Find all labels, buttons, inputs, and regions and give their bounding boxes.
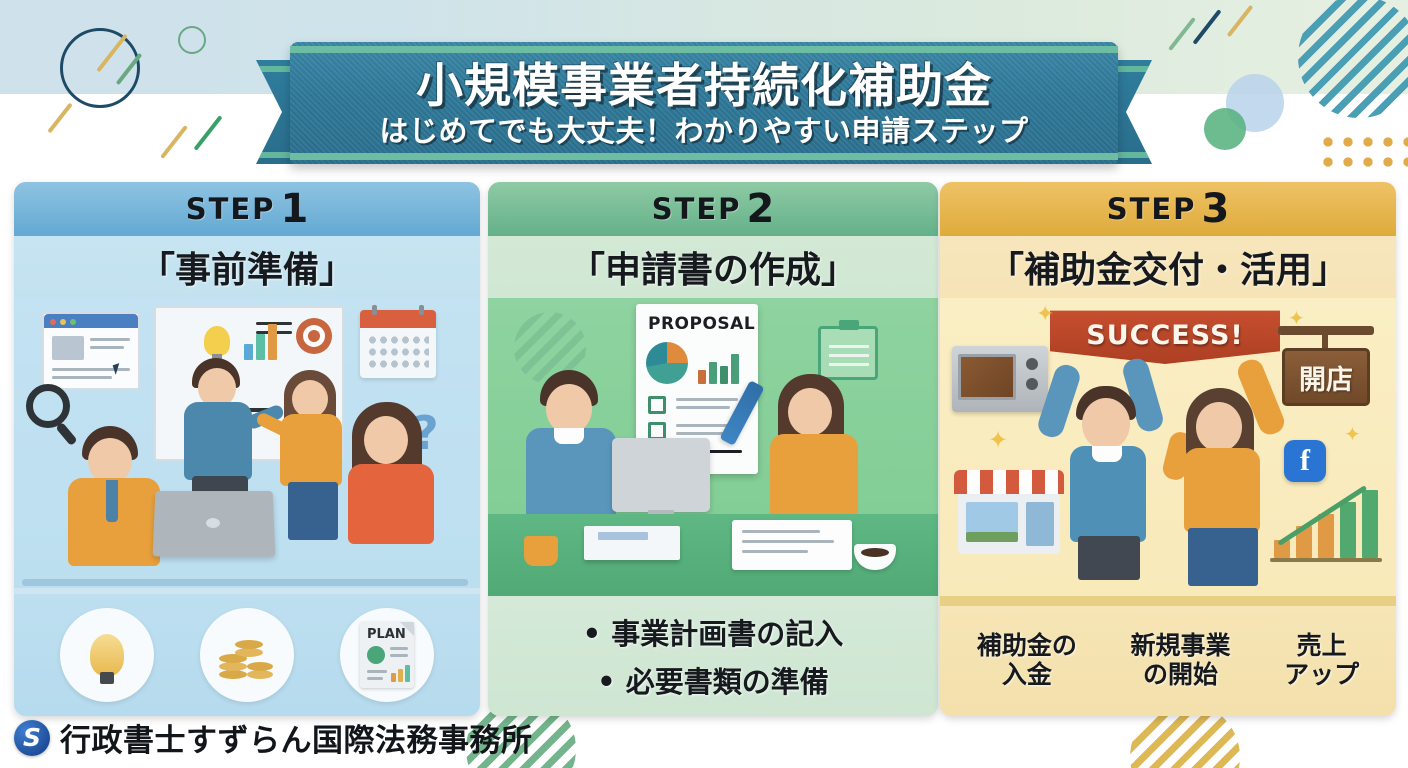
success-ribbon-text: SUCCESS! bbox=[1086, 320, 1243, 351]
step-panel-3: STEP 3 「補助金交付・活用」 SUCCESS! ✦ ✦ ✦ ✦ ✦ bbox=[940, 182, 1396, 716]
step-2-bullets: • 事業計画書の記入 • 必要書類の準備 bbox=[488, 596, 938, 716]
magnifier-icon-illustration bbox=[26, 384, 70, 428]
target-illustration bbox=[296, 318, 332, 354]
coffee-mug-illustration bbox=[524, 536, 558, 566]
office-name: 行政書士すずらん国際法務事務所 bbox=[60, 715, 533, 760]
signed-paper-illustration bbox=[732, 520, 852, 570]
calendar-illustration bbox=[360, 310, 436, 378]
step-panel-1: STEP 1 「事前準備」 bbox=[14, 182, 480, 716]
step-2-title: 「申請書の作成」 bbox=[488, 236, 938, 298]
step-2-header: STEP 2 bbox=[488, 182, 938, 236]
banner-body: 小規模事業者持続化補助金 はじめてでも大丈夫！わかりやすい申請ステップ bbox=[290, 42, 1118, 164]
plan-document-icon: PLAN bbox=[340, 608, 434, 702]
oven-illustration bbox=[952, 346, 1048, 412]
result-label: 売上アップ bbox=[1284, 632, 1359, 690]
step-1-header: STEP 1 bbox=[14, 182, 480, 236]
monitor-illustration bbox=[612, 438, 710, 512]
laptop-illustration bbox=[153, 491, 276, 556]
paper-stack-illustration bbox=[584, 526, 680, 560]
office-logo-icon: S bbox=[14, 720, 50, 756]
step-3-header: STEP 3 bbox=[940, 182, 1396, 236]
result-text: 新規事業の開始 bbox=[1130, 631, 1230, 689]
step-2-number: 2 bbox=[746, 189, 774, 229]
sparkle-icon: ✦ bbox=[1344, 422, 1361, 446]
lightbulb-icon bbox=[60, 608, 154, 702]
bullet-item: • 必要書類の準備 bbox=[597, 659, 829, 701]
result-text: 補助金の入金 bbox=[977, 631, 1077, 689]
bar-chart-illustration-2 bbox=[698, 348, 746, 384]
plan-document-label: PLAN bbox=[367, 627, 406, 642]
proposal-document-title: PROPOSAL bbox=[648, 314, 755, 334]
checkbox-checked-1 bbox=[648, 396, 666, 414]
clipboard-illustration bbox=[818, 326, 878, 380]
result-label: 新規事業の開始 bbox=[1130, 632, 1230, 690]
step-1-title: 「事前準備」 bbox=[14, 236, 480, 298]
step-3-results: 補助金の入金 新規事業の開始 売上アップ bbox=[940, 606, 1396, 716]
pie-chart-illustration bbox=[646, 342, 688, 384]
growth-chart-illustration bbox=[1270, 488, 1382, 564]
footer: S 行政書士すずらん国際法務事務所 bbox=[14, 715, 533, 760]
bullet-item: • 事業計画書の記入 bbox=[583, 611, 844, 653]
sparkle-icon: ✦ bbox=[1036, 302, 1054, 327]
step-1-icon-row: PLAN bbox=[14, 594, 480, 716]
lightbulb-illustration bbox=[204, 326, 230, 356]
title-banner: 小規模事業者持続化補助金 はじめてでも大丈夫！わかりやすい申請ステップ bbox=[256, 18, 1152, 164]
step-panel-2: STEP 2 「申請書の作成」 PROPOSAL bbox=[488, 182, 938, 716]
step-3-title: 「補助金交付・活用」 bbox=[940, 236, 1396, 298]
facebook-icon: f bbox=[1284, 440, 1326, 482]
wooden-sign-text: 開店 bbox=[1299, 358, 1353, 397]
sparkle-icon: ✦ bbox=[988, 426, 1008, 454]
step-3-number: 3 bbox=[1201, 189, 1229, 229]
step-1-illustration: ? bbox=[14, 298, 480, 588]
step-2-illustration: PROPOSAL bbox=[488, 298, 938, 606]
wooden-sign-illustration: 開店 bbox=[1278, 326, 1374, 408]
step-1-number: 1 bbox=[280, 189, 308, 229]
desk-surface-illustration bbox=[22, 579, 468, 586]
step-2-label: STEP bbox=[652, 192, 742, 226]
browser-window-illustration bbox=[42, 312, 140, 390]
banner-title: 小規模事業者持続化補助金 bbox=[416, 62, 992, 111]
coins-icon bbox=[200, 608, 294, 702]
result-text: 売上アップ bbox=[1284, 631, 1359, 689]
banner-subtitle: はじめてでも大丈夫！わかりやすい申請ステップ bbox=[379, 116, 1028, 148]
success-ribbon-illustration: SUCCESS! bbox=[1050, 306, 1280, 364]
storefront-illustration bbox=[954, 470, 1064, 554]
step-3-label: STEP bbox=[1107, 192, 1197, 226]
step-1-label: STEP bbox=[186, 192, 276, 226]
result-label: 補助金の入金 bbox=[977, 632, 1077, 690]
step-3-illustration: SUCCESS! ✦ ✦ ✦ ✦ ✦ 開店 bbox=[940, 298, 1396, 618]
